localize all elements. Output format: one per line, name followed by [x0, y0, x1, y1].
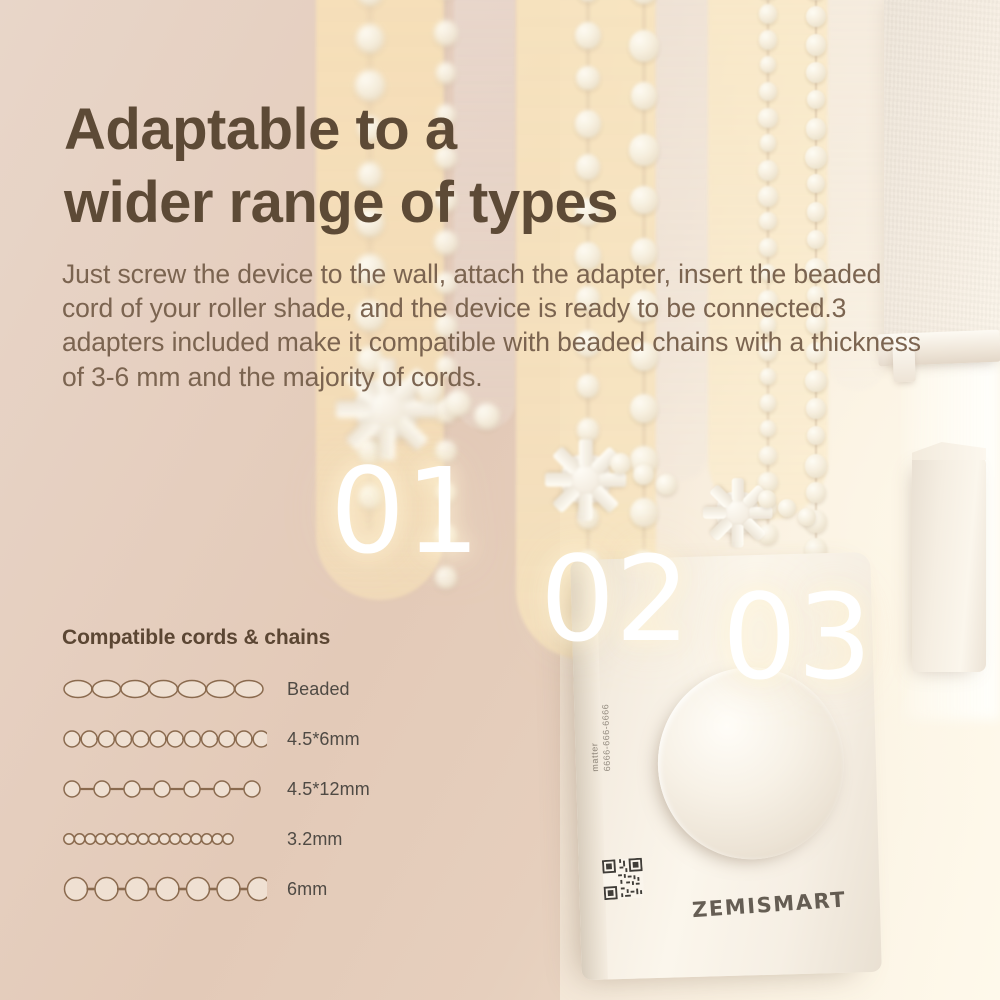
adapter-attached-bead — [633, 464, 654, 485]
adapter-gear-tooth — [749, 507, 772, 519]
chain-bead — [630, 394, 658, 423]
compat-section-title: Compatible cords & chains — [62, 626, 482, 650]
chain-diagram — [62, 826, 267, 852]
chain-bead — [759, 30, 778, 50]
compat-row-label: 4.5*12mm — [287, 779, 370, 800]
chain-icon-small-round-touching-chain — [62, 726, 267, 752]
compat-row-label: 6mm — [287, 879, 327, 900]
chain-diagram — [62, 676, 267, 702]
adapter-gear-tooth — [336, 401, 370, 418]
compat-row-label: Beaded — [287, 679, 350, 700]
adapter-attached-bead — [474, 403, 500, 429]
adapter-gear-tooth — [732, 478, 744, 501]
chain-icon-large-round-link-chain — [62, 876, 267, 902]
chain-bead — [575, 22, 601, 49]
compat-row: 3.2mm — [62, 820, 482, 858]
chain-bead — [806, 398, 826, 419]
compat-row: 6mm — [62, 870, 482, 908]
chain-bead — [807, 202, 826, 222]
chain-diagram — [62, 726, 267, 752]
compat-row: 4.5*6mm — [62, 720, 482, 758]
matter-certification-label: matter — [589, 742, 600, 771]
chain-bead — [805, 454, 827, 478]
chain-bead — [759, 4, 778, 24]
wall-panel — [912, 456, 986, 672]
compat-row: 4.5*12mm — [62, 770, 482, 808]
adapter-gear-tooth — [404, 401, 438, 418]
chain-bead — [807, 90, 825, 109]
chain-bead — [759, 238, 777, 257]
chain-bead — [576, 66, 599, 90]
chain-icon-oval-linked-chain — [62, 676, 267, 702]
chain-bead — [759, 446, 777, 465]
chain-bead — [436, 62, 457, 84]
adapter-attached-bead — [610, 453, 631, 474]
compatible-cords-section: Compatible cords & chains Beaded4.5*6mm4… — [62, 626, 482, 920]
adapter-gear-tooth — [545, 473, 572, 487]
step-number-03: 03 — [722, 578, 872, 696]
product-marketing-image: matter 6666-666-6666 ZEMISMART 01 02 03 … — [0, 0, 1000, 1000]
compat-row-label: 3.2mm — [287, 829, 343, 850]
page-title: Adaptable to a wider range of types — [64, 93, 764, 239]
chain-bead — [630, 498, 658, 527]
adapter-gear-tooth — [579, 494, 593, 521]
step-number-01: 01 — [330, 452, 480, 570]
chain-bead — [806, 118, 827, 140]
body-description: Just screw the device to the wall, attac… — [62, 257, 922, 395]
chain-bead — [806, 34, 827, 56]
qr-code-icon — [602, 858, 644, 900]
light-band-4 — [656, 0, 708, 480]
adapter-gear-tooth — [579, 439, 593, 466]
adapter-gear-tooth — [703, 507, 726, 519]
compat-row: Beaded — [62, 670, 482, 708]
adapter-gear-tooth — [599, 473, 626, 487]
chain-diagram — [62, 876, 267, 902]
adapter-attached-bead — [778, 499, 796, 517]
chain-bead — [760, 394, 777, 412]
compat-row-label: 4.5*6mm — [287, 729, 360, 750]
step-number-02: 02 — [540, 540, 690, 658]
headline-line-1: Adaptable to a — [64, 97, 457, 162]
adapter-attached-bead — [798, 508, 816, 526]
chain-bead — [807, 426, 825, 445]
headline-line-2: wider range of types — [64, 166, 764, 239]
adapter-gear-tooth — [732, 524, 744, 547]
chain-bead — [629, 30, 659, 62]
compat-row-list: Beaded4.5*6mm4.5*12mm3.2mm6mm — [62, 670, 482, 908]
chain-diagram — [62, 776, 267, 802]
adapter-attached-bead — [656, 474, 677, 495]
brand-logo: ZEMISMART — [691, 887, 847, 922]
chain-icon-tiny-round-tight-chain — [62, 826, 267, 852]
chain-bead — [806, 482, 826, 503]
chain-bead — [806, 62, 826, 83]
chain-icon-round-long-link-chain — [62, 776, 267, 802]
device-serial-number: 6666-666-6666 — [600, 704, 612, 772]
chain-bead — [356, 24, 384, 53]
